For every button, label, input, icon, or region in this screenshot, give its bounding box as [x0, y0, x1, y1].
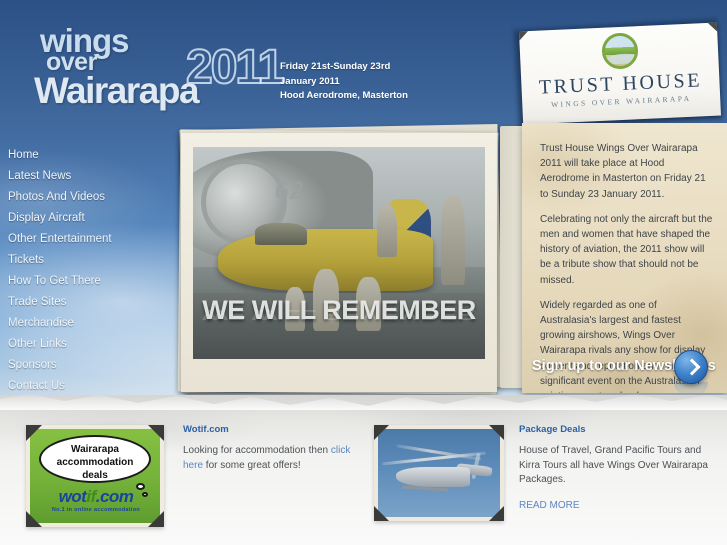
photo-corner-icon	[26, 511, 42, 527]
photo-corner-icon	[26, 425, 42, 441]
sidebar-item-contact-us[interactable]: Contact Us	[0, 376, 175, 397]
sidebar-item-how-to-get-there[interactable]: How To Get There	[0, 271, 175, 292]
photo-corner-icon	[489, 506, 504, 521]
photo-corner-icon	[148, 511, 164, 527]
card-corner-icon	[519, 29, 530, 43]
sidebar-item-other-links[interactable]: Other Links	[0, 334, 175, 355]
helicopter-photo-image	[378, 429, 500, 517]
hero-figure	[377, 205, 397, 257]
event-venue: Hood Aerodrome, Masterton	[280, 89, 408, 104]
photo-corner-icon	[374, 425, 389, 440]
photo-corner-icon	[148, 425, 164, 441]
hero-cockpit-canopy	[255, 223, 307, 245]
sidebar-item-merchandise[interactable]: Merchandise	[0, 313, 175, 334]
newsletter-signup[interactable]: Sign up to our Newsletters	[522, 348, 727, 390]
sidebar-item-home[interactable]: Home	[0, 145, 175, 166]
trust-house-landscape-icon	[601, 32, 639, 70]
sidebar-item-latest-news[interactable]: Latest News	[0, 166, 175, 187]
sidebar-item-tickets[interactable]: Tickets	[0, 250, 175, 271]
wotif-text-before: Looking for accommodation then	[183, 445, 331, 456]
package-deals-title: Package Deals	[519, 424, 714, 435]
wotif-logo: wotif.com	[40, 487, 152, 507]
wotif-logo-dotcom: .com	[96, 487, 134, 506]
event-dates: Friday 21st-Sunday 23rd	[280, 60, 408, 75]
event-info: Friday 21st-Sunday 23rd January 2011 Hoo…	[280, 60, 408, 104]
sponsor-card-trust-house[interactable]: TRUST HOUSE WINGS OVER WAIRARAPA	[519, 23, 721, 125]
intro-paragraph: Celebrating not only the aircraft but th…	[540, 212, 715, 288]
hero-figure	[441, 195, 465, 285]
helicopter-fuselage	[396, 467, 470, 487]
intro-paper-panel: Trust House Wings Over Wairarapa 2011 wi…	[522, 123, 727, 393]
event-month-year: January 2011	[280, 75, 408, 90]
package-deals-body: House of Travel, Grand Pacific Tours and…	[519, 444, 714, 488]
photo-corner-icon	[489, 425, 504, 440]
ad-speech-bubble: Wairarapa accommodation deals	[39, 435, 151, 483]
sidebar-item-other-entertainment[interactable]: Other Entertainment	[0, 229, 175, 250]
hero-photo-frame[interactable]: 62 WE WILL REMEMBER WE WILL REMEMBER	[181, 133, 497, 392]
sidebar-item-trade-sites[interactable]: Trade Sites	[0, 292, 175, 313]
hero-photo-aircraft: 62 WE WILL REMEMBER WE WILL REMEMBER	[193, 147, 485, 359]
logo-year: 2011	[186, 44, 282, 92]
ad-bubble-line-3: deals	[82, 470, 108, 481]
wotif-logo-if: if	[86, 487, 95, 506]
package-deals-block: Package Deals House of Travel, Grand Pac…	[519, 424, 714, 513]
wotif-text-after: for some great offers!	[203, 460, 301, 471]
ad-bubble-line-2: accommodation	[57, 457, 134, 468]
wotif-logo-tagline: No.1 in online accommodation	[40, 507, 152, 513]
photo-corner-icon	[374, 506, 389, 521]
ad-bubble-line-1: Wairarapa	[71, 444, 119, 455]
sidebar-item-sponsors[interactable]: Sponsors	[0, 355, 175, 376]
intro-paragraph: Trust House Wings Over Wairarapa 2011 wi…	[540, 141, 715, 202]
wotif-logo-wot: wot	[59, 487, 87, 506]
wotif-info-block: Wotif.com Looking for accommodation then…	[183, 424, 358, 473]
wotif-title: Wotif.com	[183, 424, 358, 435]
sidebar-item-display-aircraft[interactable]: Display Aircraft	[0, 208, 175, 229]
wotif-ad-image: Wairarapa accommodation deals wotif.com …	[30, 429, 160, 523]
helicopter-photo[interactable]	[374, 425, 504, 521]
wotif-body: Looking for accommodation then click her…	[183, 444, 358, 473]
logo-line-wairarapa: Wairarapa	[34, 72, 198, 109]
sidebar-item-photos-and-videos[interactable]: Photos And Videos	[0, 187, 175, 208]
hero-plane-number: 62	[273, 175, 305, 206]
page-root: wings over Wairarapa 2011 Friday 21st-Su…	[0, 0, 727, 545]
main-navigation: Home Latest News Photos And Videos Displ…	[0, 145, 175, 397]
hero-caption-reflection: WE WILL REMEMBER	[193, 306, 485, 323]
package-deals-read-more-link[interactable]: READ MORE	[519, 500, 580, 511]
chevron-right-icon[interactable]	[674, 350, 708, 384]
wotif-ad-banner[interactable]: Wairarapa accommodation deals wotif.com …	[26, 425, 164, 527]
